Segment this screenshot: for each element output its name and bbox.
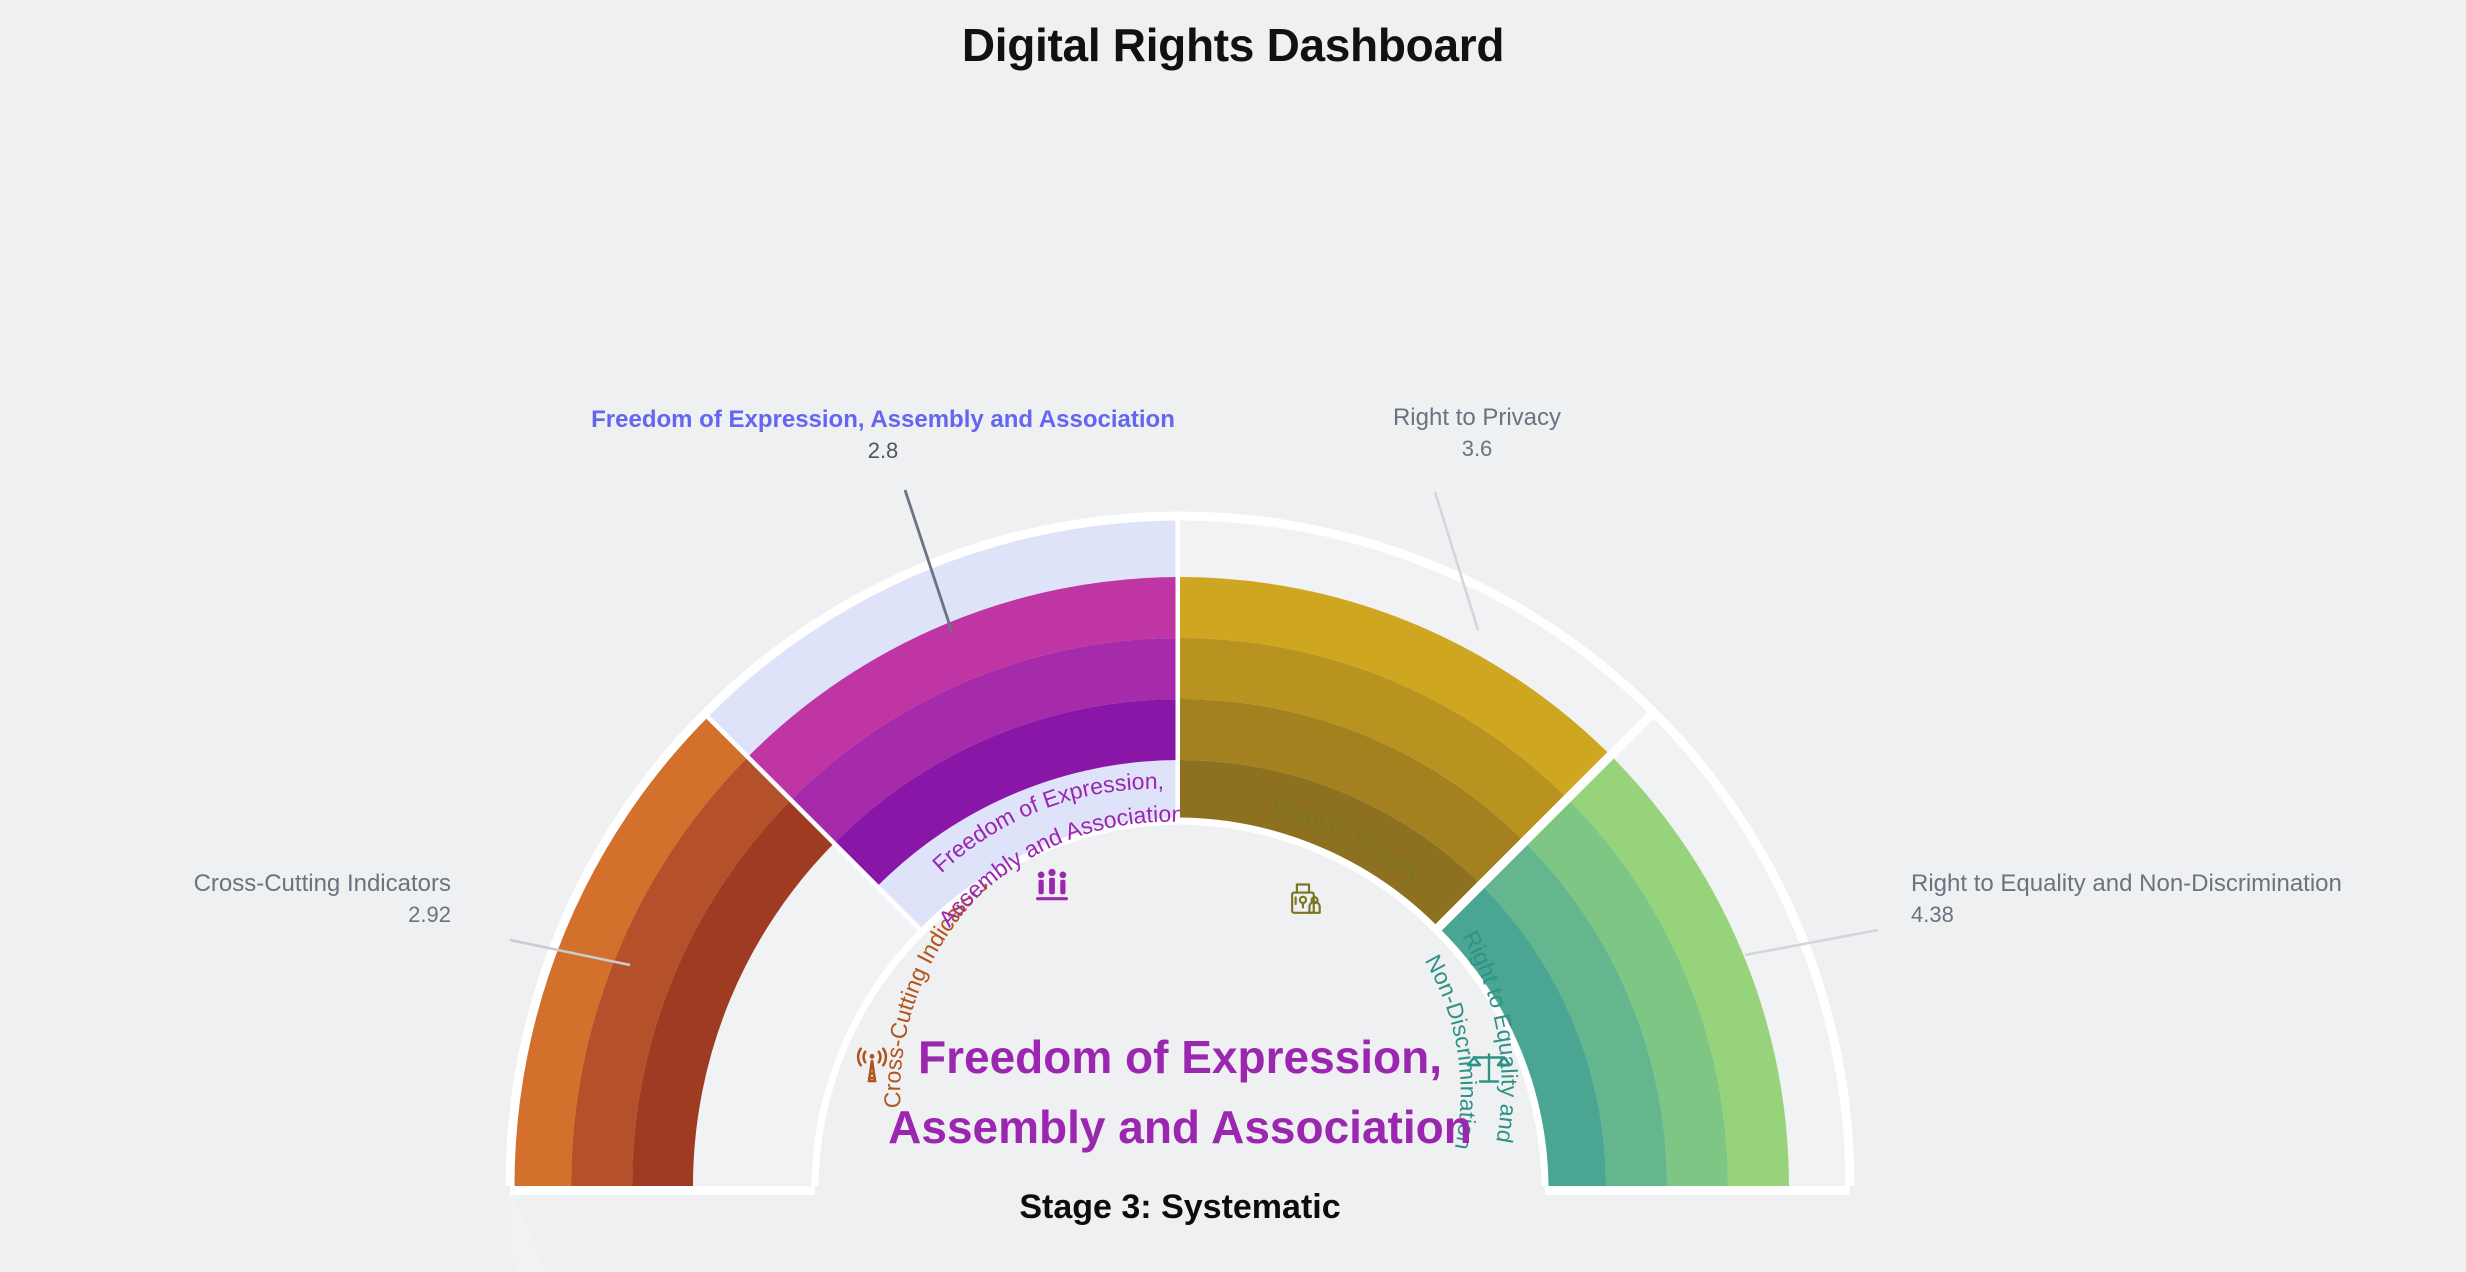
gauge-chart: Cross-Cutting Indicators [0, 0, 2466, 1272]
callout-value: 2.92 [408, 902, 451, 927]
callout-label: Freedom of Expression, Assembly and Asso… [591, 406, 1175, 433]
padlock-person-icon [1292, 885, 1320, 913]
center-content: Freedom of Expression, Assembly and Asso… [888, 1031, 1472, 1226]
callout-label: Right to Privacy [1393, 404, 1561, 431]
callout-cross-cutting-indicators[interactable]: Cross-Cutting Indicators 2.92 [194, 870, 451, 927]
callout-label: Right to Equality and Non-Discrimination [1911, 870, 2342, 897]
callout-right-to-privacy[interactable]: Right to Privacy 3.6 [1393, 404, 1561, 461]
center-title-line1: Freedom of Expression, [918, 1031, 1442, 1083]
callout-right-to-equality[interactable]: Right to Equality and Non-Discrimination… [1911, 870, 2342, 927]
callout-value: 2.8 [868, 438, 899, 463]
callout-label: Cross-Cutting Indicators [194, 870, 451, 897]
center-title-line2: Assembly and Association [888, 1101, 1472, 1153]
radial-gauge-svg: Cross-Cutting Indicators [0, 0, 2466, 1272]
people-group-icon [1036, 869, 1068, 900]
callout-value: 3.6 [1462, 436, 1493, 461]
callout-value: 4.38 [1911, 902, 1954, 927]
callout-freedom-of-expression[interactable]: Freedom of Expression, Assembly and Asso… [591, 406, 1175, 463]
center-stage-label: Stage 3: Systematic [1019, 1188, 1340, 1226]
